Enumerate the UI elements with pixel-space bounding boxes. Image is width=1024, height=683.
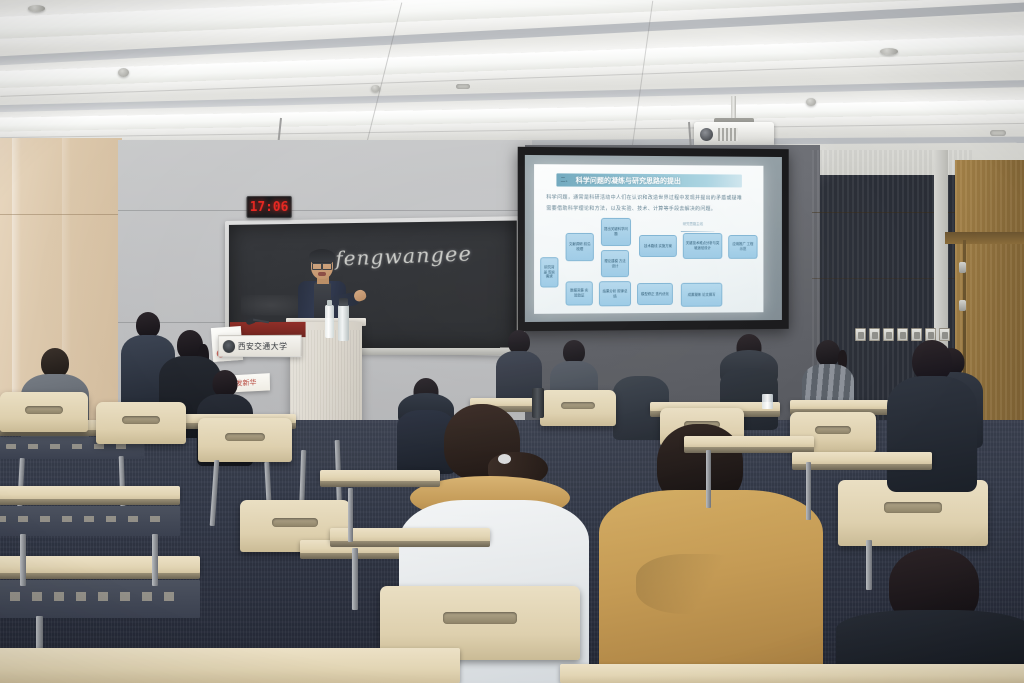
smoke-detector-icon <box>371 85 380 92</box>
flowchart-box: 理论建模 方法设计 <box>601 250 629 277</box>
slide-body-line-1: 科学问题，通常是科研活动中人们在认识和改造世界过程中发现并提出的矛盾或疑难 <box>546 194 742 202</box>
student-desk <box>684 436 814 448</box>
chair-handle <box>272 518 318 527</box>
desk-leg <box>352 548 358 610</box>
lecture-chair[interactable] <box>198 418 292 462</box>
chair-handle <box>443 612 517 624</box>
smoke-detector-icon <box>28 5 45 12</box>
student-desk <box>792 452 932 465</box>
desk-leg <box>152 534 158 586</box>
chair-handle <box>225 433 265 441</box>
torso-coat <box>887 376 977 492</box>
led-clock-display: 17:06 <box>246 196 291 218</box>
head <box>816 340 840 366</box>
flowchart-box: 成果凝练 论文撰写 <box>681 283 722 307</box>
student-desk-foreground <box>0 648 460 683</box>
slide-title-number: 二、 <box>556 176 570 183</box>
desk-leg <box>20 534 26 586</box>
projection-screen: 二、 科学问题的凝练与研究思路的提出 科学问题，通常是科研活动中人们在认识和改造… <box>525 155 782 322</box>
smoke-detector-icon <box>118 68 129 77</box>
smoke-detector-icon <box>806 98 816 106</box>
ceiling-vent <box>456 84 470 89</box>
smoke-detector-icon <box>880 48 898 55</box>
lecture-hall-photo: fengwangee 17:06 二、 科学问题的凝练与研究思路的提出 科学问题… <box>0 0 1024 683</box>
flowchart-box: 提出关键科学问题 <box>601 218 631 246</box>
chair-handle <box>122 416 160 424</box>
slide-title-banner: 二、 科学问题的凝练与研究思路的提出 <box>556 173 741 187</box>
wall-switch[interactable] <box>855 328 866 341</box>
head <box>213 370 238 397</box>
student-desk <box>330 528 490 542</box>
projector-vent <box>718 128 738 141</box>
flowchart-box: 结果分析 规律总结 <box>599 281 631 306</box>
desk-leg <box>348 488 353 542</box>
door-latch[interactable] <box>959 300 966 311</box>
chair-leg <box>866 540 872 590</box>
thermos-flask <box>338 305 349 341</box>
student-desk <box>0 556 200 574</box>
clock-time: 17:06 <box>250 199 289 214</box>
presentation-slide: 二、 科学问题的凝练与研究思路的提出 科学问题，通常是科研活动中人们在认识和改造… <box>534 164 763 314</box>
desk-leg <box>706 450 711 508</box>
desk-modesty-panel <box>0 580 200 618</box>
slide-title: 科学问题的凝练与研究思路的提出 <box>571 175 681 186</box>
flowchart-box: 文献调研 前沿梳理 <box>566 233 594 261</box>
lecture-chair[interactable] <box>96 402 186 444</box>
coat-fold <box>636 554 756 614</box>
flowchart-box: 关键技术难点分析与突破途径设计 <box>683 233 722 259</box>
student-desk <box>320 470 440 482</box>
head <box>629 352 654 379</box>
university-name: 西安交通大学 <box>238 340 288 351</box>
speaker-mouth <box>318 272 326 276</box>
flowchart-box: 模型修正 迭代优化 <box>637 283 673 305</box>
projection-screen-frame: 二、 科学问题的凝练与研究思路的提出 科学问题，通常是科研活动中人们在认识和改造… <box>518 147 789 331</box>
slide-body-line-2: 需要借助科学理论和方法，以及实验、技术、计算等手段去解决的问题。 <box>546 205 716 213</box>
ceiling-vent <box>990 130 1006 136</box>
door-handle[interactable] <box>959 262 966 273</box>
water-bottle <box>325 305 334 338</box>
university-logo-icon <box>223 340 235 353</box>
chair-handle <box>884 502 942 513</box>
wall-switch[interactable] <box>869 328 880 341</box>
student-desk <box>0 486 180 500</box>
flowchart-annotation: 研究思路主线 <box>683 221 703 226</box>
projector-lens-icon <box>700 128 713 141</box>
flowchart-arrow <box>681 231 715 232</box>
lecture-chair[interactable] <box>0 392 88 432</box>
audience-member <box>836 548 1024 683</box>
chair-handle <box>25 406 63 414</box>
door-header <box>945 232 1024 244</box>
university-plaque: 西安交通大学 <box>218 335 301 357</box>
desk-cup <box>762 394 773 409</box>
flowchart-box: 研究背景 现实需求 <box>540 257 558 287</box>
glasses-icon <box>312 262 332 267</box>
flowchart-box: 技术路线 实施方案 <box>639 235 677 257</box>
student-desk-foreground <box>560 664 1024 683</box>
flowchart-box: 应用推广 工程示范 <box>728 235 757 259</box>
desk-modesty-panel <box>0 506 180 536</box>
hair-tie <box>498 454 511 464</box>
flowchart-box: 数据采集 实验验证 <box>566 281 593 305</box>
desk-leg <box>806 462 811 520</box>
